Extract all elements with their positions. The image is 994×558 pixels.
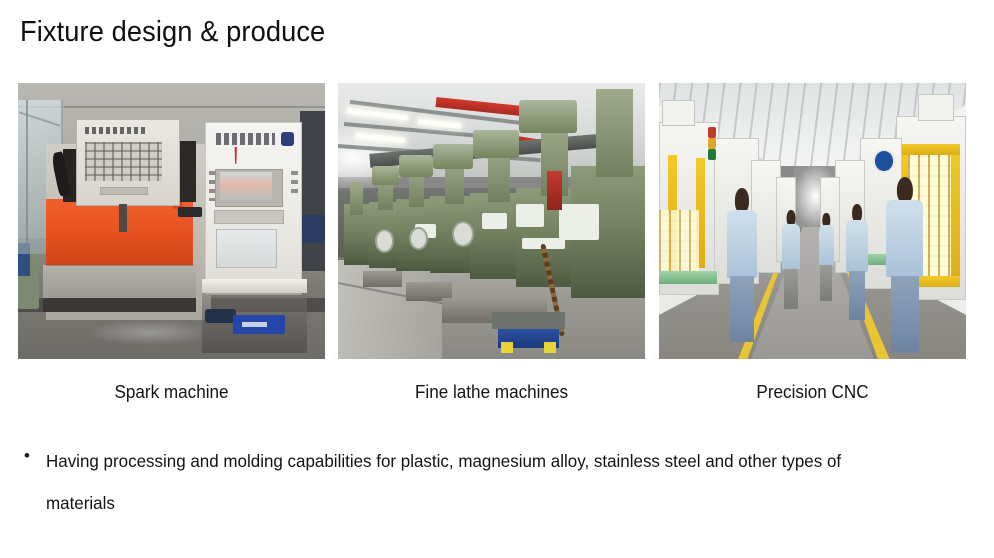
trolley-deck: [492, 312, 566, 329]
page-title: Fixture design & produce: [20, 12, 325, 52]
background-blue-crate: [300, 215, 325, 243]
operator-console: [76, 119, 179, 207]
table-parts-tray: [205, 309, 236, 323]
cnc-perforated-panel-left: [659, 210, 699, 271]
charmilles-logo-icon: [281, 132, 293, 146]
green-work-bench-left: [659, 271, 717, 285]
background-cabinet-right: [300, 111, 325, 271]
photo-precision-cnc[interactable]: [659, 83, 966, 359]
machine-pillar-right: [178, 141, 196, 202]
bullet-list-item: • Having processing and molding capabili…: [20, 440, 960, 524]
cabinet-lower-door: [216, 229, 277, 269]
worker-trousers: [820, 265, 832, 301]
machine-light-panel-4: [559, 204, 599, 240]
wall-seam: [18, 106, 325, 108]
bullet-marker: •: [20, 440, 46, 472]
status-light-green: [708, 149, 716, 160]
caption-precision-cnc: Precision CNC: [667, 379, 959, 405]
handwheel-1: [375, 229, 394, 252]
cnc-door-frame-right-1: [951, 144, 960, 288]
lathe-head-near-1: [473, 130, 519, 158]
worker-shirt: [819, 225, 834, 266]
lathe-head-far-2: [372, 166, 400, 185]
worker-shirt: [727, 210, 758, 278]
photo-fine-lathe-machines[interactable]: [338, 83, 645, 359]
handwheel-3: [452, 221, 474, 247]
lathe-head-mid-2: [433, 144, 473, 169]
wall-notice-left: [662, 100, 695, 127]
worker-trousers: [849, 271, 865, 321]
caption-fine-lathe-machines: Fine lathe machines: [346, 379, 638, 405]
trolley-wheel-left: [501, 342, 513, 353]
status-light-amber: [708, 138, 716, 149]
console-keypad: [85, 142, 162, 181]
cabinet-display-screen: [220, 172, 272, 199]
cabinet-button-column-right: [291, 171, 298, 198]
cnc-hall-scene: [659, 83, 966, 359]
worker-trousers: [784, 269, 798, 310]
worker-left-mid: [782, 210, 800, 309]
worker-shirt: [886, 200, 923, 278]
crate-label: [242, 322, 267, 328]
red-warning-flag: [547, 171, 562, 210]
worker-right-foreground: [886, 177, 923, 354]
trolley-wheel-right: [544, 342, 556, 353]
charmilles-brand-text: [216, 133, 275, 145]
handwheel-2: [409, 227, 428, 250]
lathe-machine-near-1: [470, 193, 519, 279]
worker-trousers: [730, 276, 753, 342]
worker-right-mid: [846, 204, 867, 320]
worker-right-far: [819, 213, 834, 301]
status-light-red: [708, 127, 716, 138]
cabinet-control-strip: [214, 210, 285, 224]
machine-light-panel-3: [516, 204, 544, 226]
spark-machine-scene: [18, 83, 325, 359]
blue-safety-sign-icon: [873, 149, 895, 172]
cabinet-red-marking: [233, 147, 239, 164]
wall-notice-right: [918, 94, 954, 121]
worker-trousers: [891, 276, 919, 354]
stainless-work-table: [202, 279, 306, 293]
machine-plinth: [43, 298, 197, 312]
worker-shirt: [782, 224, 800, 270]
door-handle: [178, 207, 203, 217]
machine-tray-1: [363, 271, 403, 288]
console-support-arm: [119, 204, 127, 232]
photo-spark-machine[interactable]: [18, 83, 325, 359]
lathe-column-foreground: [596, 89, 633, 177]
worker-shirt: [846, 220, 867, 272]
lathe-head-mid-1: [399, 155, 433, 177]
slide-canvas: Fixture design & produce: [0, 0, 994, 558]
cnc-door-frame-right-top: [898, 144, 959, 155]
machine-light-panel-2: [482, 213, 507, 230]
console-brand-label: [85, 127, 146, 135]
lathe-hall-scene: [338, 83, 645, 359]
caption-spark-machine: Spark machine: [26, 379, 318, 405]
console-lower-panel: [100, 187, 149, 196]
worker-head: [735, 188, 749, 213]
worker-left-foreground: [727, 188, 758, 343]
charmilles-cabinet: [205, 122, 302, 295]
bullet-text: Having processing and molding capabiliti…: [46, 440, 880, 524]
lathe-column-far-1: [350, 182, 362, 215]
lathe-head-near-2: [519, 100, 577, 133]
